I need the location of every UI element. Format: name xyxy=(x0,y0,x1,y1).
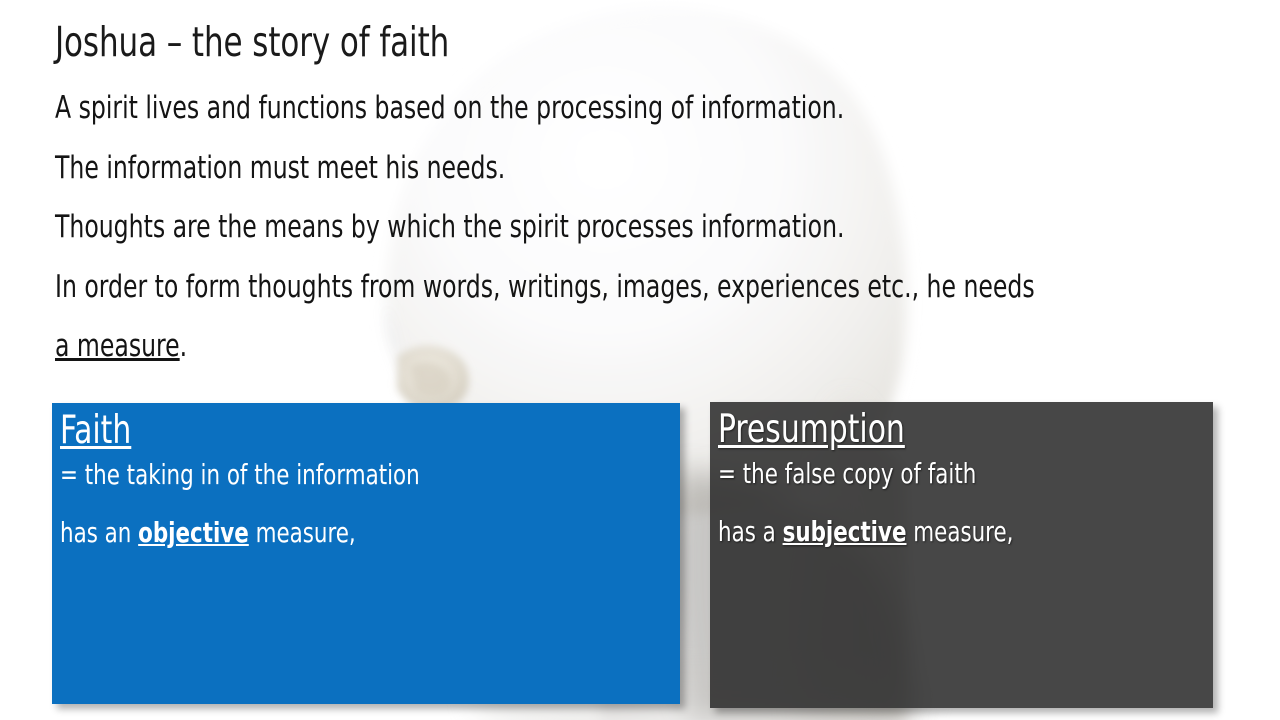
slide-text-block: Joshua – the story of faith A spirit liv… xyxy=(55,18,1235,377)
presumption-panel-measure: has a subjective measure, xyxy=(718,512,1139,552)
body-line-2: The information must meet his needs. xyxy=(55,139,1052,199)
faith-measure-suffix: measure, xyxy=(249,516,356,549)
presumption-measure-emphasis: subjective xyxy=(783,515,907,548)
body-line-1: A spirit lives and functions based on th… xyxy=(55,79,1052,139)
faith-panel: Faith = the taking in of the information… xyxy=(52,403,680,704)
slide-canvas: Joshua – the story of faith A spirit liv… xyxy=(0,0,1280,720)
presumption-panel-definition: = the false copy of faith xyxy=(718,454,1139,494)
faith-measure-prefix: has an xyxy=(60,516,138,549)
presumption-measure-suffix: measure, xyxy=(907,515,1014,548)
body-line-4-underlined: a measure xyxy=(55,328,180,364)
body-line-3: Thoughts are the means by which the spir… xyxy=(55,198,1052,258)
presumption-panel-heading: Presumption xyxy=(718,408,1139,452)
body-line-4-prefix: In order to form thoughts from words, wr… xyxy=(55,269,1035,305)
faith-measure-emphasis: objective xyxy=(138,516,249,549)
presumption-panel: Presumption = the false copy of faith ha… xyxy=(710,402,1213,708)
faith-panel-measure: has an objective measure, xyxy=(60,513,587,553)
faith-panel-heading: Faith xyxy=(60,409,587,453)
faith-panel-definition: = the taking in of the information xyxy=(60,455,587,495)
page-title: Joshua – the story of faith xyxy=(55,18,1046,66)
body-line-4: In order to form thoughts from words, wr… xyxy=(55,258,1052,377)
presumption-measure-prefix: has a xyxy=(718,515,783,548)
body-line-4-suffix: . xyxy=(180,328,187,364)
